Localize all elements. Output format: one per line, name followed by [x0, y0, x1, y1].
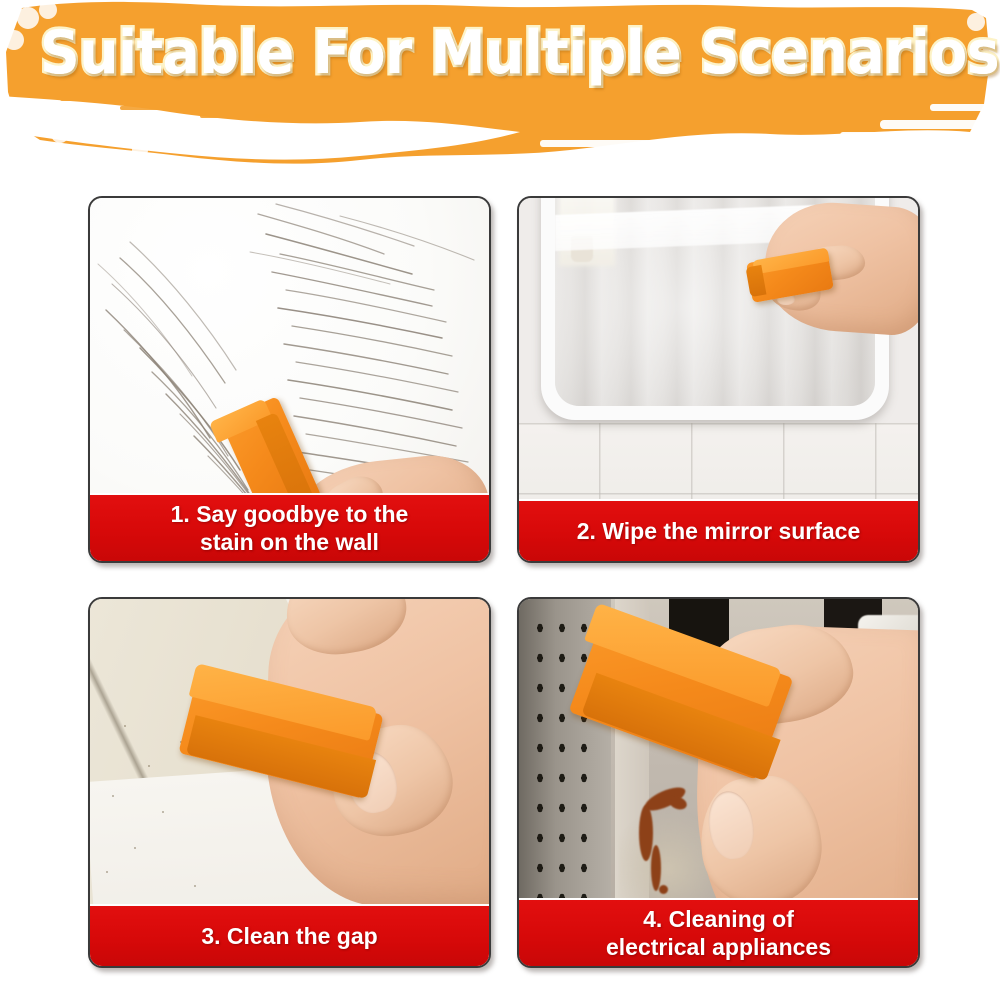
rust-blob [659, 885, 668, 894]
panel-4-caption-text: 4. Cleaning ofelectrical appliances [606, 905, 831, 961]
dirt-speck [148, 765, 150, 767]
panel-3-caption: 3. Clean the gap [90, 904, 489, 966]
panel-4-caption: 4. Cleaning ofelectrical appliances [519, 898, 918, 966]
scenario-panel-4[interactable]: 4. Cleaning ofelectrical appliances [517, 597, 920, 968]
panel-3-caption-text: 3. Clean the gap [201, 922, 377, 950]
scenario-panel-2[interactable]: 2. Wipe the mirror surface [517, 196, 920, 563]
header-banner: Suitable For Multiple Scenarios Suitable… [0, 0, 1000, 185]
scenario-panel-3[interactable]: 3. Clean the gap [88, 597, 491, 968]
rust-blob [667, 794, 688, 811]
panel-2-caption: 2. Wipe the mirror surface [519, 499, 918, 561]
page-title-outline: Suitable For Multiple Scenarios [40, 22, 960, 85]
dirt-speck [124, 725, 126, 727]
dirt-speck [112, 795, 114, 797]
rust-blob [651, 845, 661, 891]
product-infographic: Suitable For Multiple Scenarios Suitable… [0, 0, 1000, 1000]
dirt-speck [134, 847, 136, 849]
panel-1-caption: 1. Say goodbye to thestain on the wall [90, 493, 489, 561]
panel-1-caption-text: 1. Say goodbye to thestain on the wall [171, 500, 409, 556]
rust-blob [639, 805, 653, 861]
panel-2-caption-text: 2. Wipe the mirror surface [577, 517, 861, 545]
scenario-panel-grid: 1. Say goodbye to thestain on the wall [88, 196, 916, 964]
scenario-panel-1[interactable]: 1. Say goodbye to thestain on the wall [88, 196, 491, 563]
dirt-speck [162, 811, 164, 813]
dirt-speck [106, 871, 108, 873]
dirt-speck [194, 885, 196, 887]
